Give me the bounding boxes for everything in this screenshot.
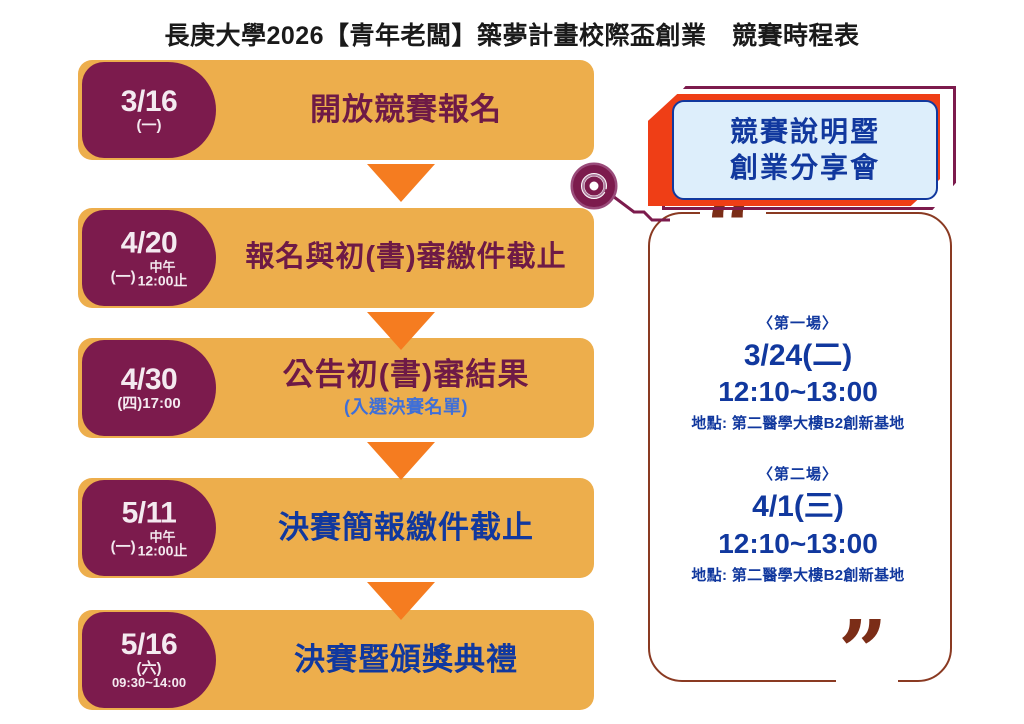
timeline-label-main: 開放競賽報名: [310, 92, 502, 128]
timeline-label: 報名與初(書)審繳件截止: [218, 208, 594, 308]
timeline-date: 4/20: [86, 229, 212, 260]
timeline-date: 4/30: [86, 365, 212, 396]
session-list: 〈第一場〉 3/24(二) 12:10~13:00 地點: 第二醫學大樓B2創新…: [648, 212, 948, 678]
timeline-time-note: 中午: [138, 530, 188, 543]
timeline-date: 3/16: [86, 87, 212, 118]
timeline-day: (一): [111, 265, 136, 287]
timeline-date: 5/16: [86, 630, 212, 661]
target-circle-icon: [570, 162, 618, 210]
timeline-day: (四)17:00: [86, 395, 212, 411]
badge-inner-panel: 競賽說明暨 創業分享會: [672, 100, 938, 200]
timeline-row: 5/16 (六) 09:30~14:00 決賽暨頒獎典禮: [78, 610, 594, 710]
timeline-date-pill: 3/16 (一): [82, 62, 216, 158]
timeline-time-note-2: 12:00止: [138, 273, 188, 287]
timeline-label: 公告初(書)審結果 (入選決賽名單): [218, 338, 594, 438]
session-date: 3/24(二): [648, 337, 948, 375]
timeline-row: 3/16 (一) 開放競賽報名: [78, 60, 594, 160]
timeline-date-pill: 4/20 (一) 中午 12:00止: [82, 210, 216, 306]
session-title: 〈第二場〉: [648, 463, 948, 484]
timeline-day: (一): [111, 535, 136, 557]
timeline-date: 5/11: [86, 499, 212, 530]
timeline-row: 4/30 (四)17:00 公告初(書)審結果 (入選決賽名單): [78, 338, 594, 438]
badge-line-2: 創業分享會: [730, 150, 880, 186]
session-place: 地點: 第二醫學大樓B2創新基地: [648, 564, 948, 585]
timeline-label-main: 公告初(書)審結果: [283, 357, 530, 393]
timeline-label: 決賽暨頒獎典禮: [218, 610, 594, 710]
timeline-row: 4/20 (一) 中午 12:00止 報名與初(書)審繳件截止: [78, 208, 594, 308]
session-title: 〈第一場〉: [648, 312, 948, 333]
timeline-day: (一): [86, 117, 212, 133]
timeline-time-note: 中午: [138, 260, 188, 273]
page-title: 長庚大學2026【青年老闆】築夢計畫校際盃創業 競賽時程表: [0, 16, 1024, 52]
timeline-date-pill: 5/11 (一) 中午 12:00止: [82, 480, 216, 576]
badge-line-1: 競賽說明暨: [730, 114, 880, 150]
session-item: 〈第一場〉 3/24(二) 12:10~13:00 地點: 第二醫學大樓B2創新…: [648, 312, 948, 434]
timeline-label-note: (入選決賽名單): [344, 393, 468, 419]
timeline-label-main: 報名與初(書)審繳件截止: [245, 241, 566, 274]
session-time: 12:10~13:00: [648, 374, 948, 409]
timeline-label-main: 決賽簡報繳件截止: [278, 510, 534, 546]
info-panel-badge: 競賽說明暨 創業分享會: [648, 86, 948, 208]
timeline-time-note-2: 12:00止: [138, 543, 188, 557]
quote-close-icon: ”: [838, 610, 887, 696]
session-date: 4/1(三): [648, 488, 948, 526]
timeline-label: 決賽簡報繳件截止: [218, 478, 594, 578]
session-place: 地點: 第二醫學大樓B2創新基地: [648, 412, 948, 433]
timeline-date-pill: 4/30 (四)17:00: [82, 340, 216, 436]
timeline-row: 5/11 (一) 中午 12:00止 決賽簡報繳件截止: [78, 478, 594, 578]
timeline-label: 開放競賽報名: [218, 60, 594, 160]
timeline: 3/16 (一) 開放競賽報名 4/20 (一) 中午 12:00止: [78, 60, 594, 710]
session-time: 12:10~13:00: [648, 526, 948, 561]
session-item: 〈第二場〉 4/1(三) 12:10~13:00 地點: 第二醫學大樓B2創新基…: [648, 463, 948, 585]
timeline-arrow-icon: [367, 164, 435, 202]
timeline-day: (六): [86, 661, 212, 677]
timeline-date-pill: 5/16 (六) 09:30~14:00: [82, 612, 216, 708]
timeline-arrow-icon: [367, 442, 435, 480]
timeline-time-note: 09:30~14:00: [86, 676, 212, 690]
timeline-label-main: 決賽暨頒獎典禮: [294, 642, 518, 678]
